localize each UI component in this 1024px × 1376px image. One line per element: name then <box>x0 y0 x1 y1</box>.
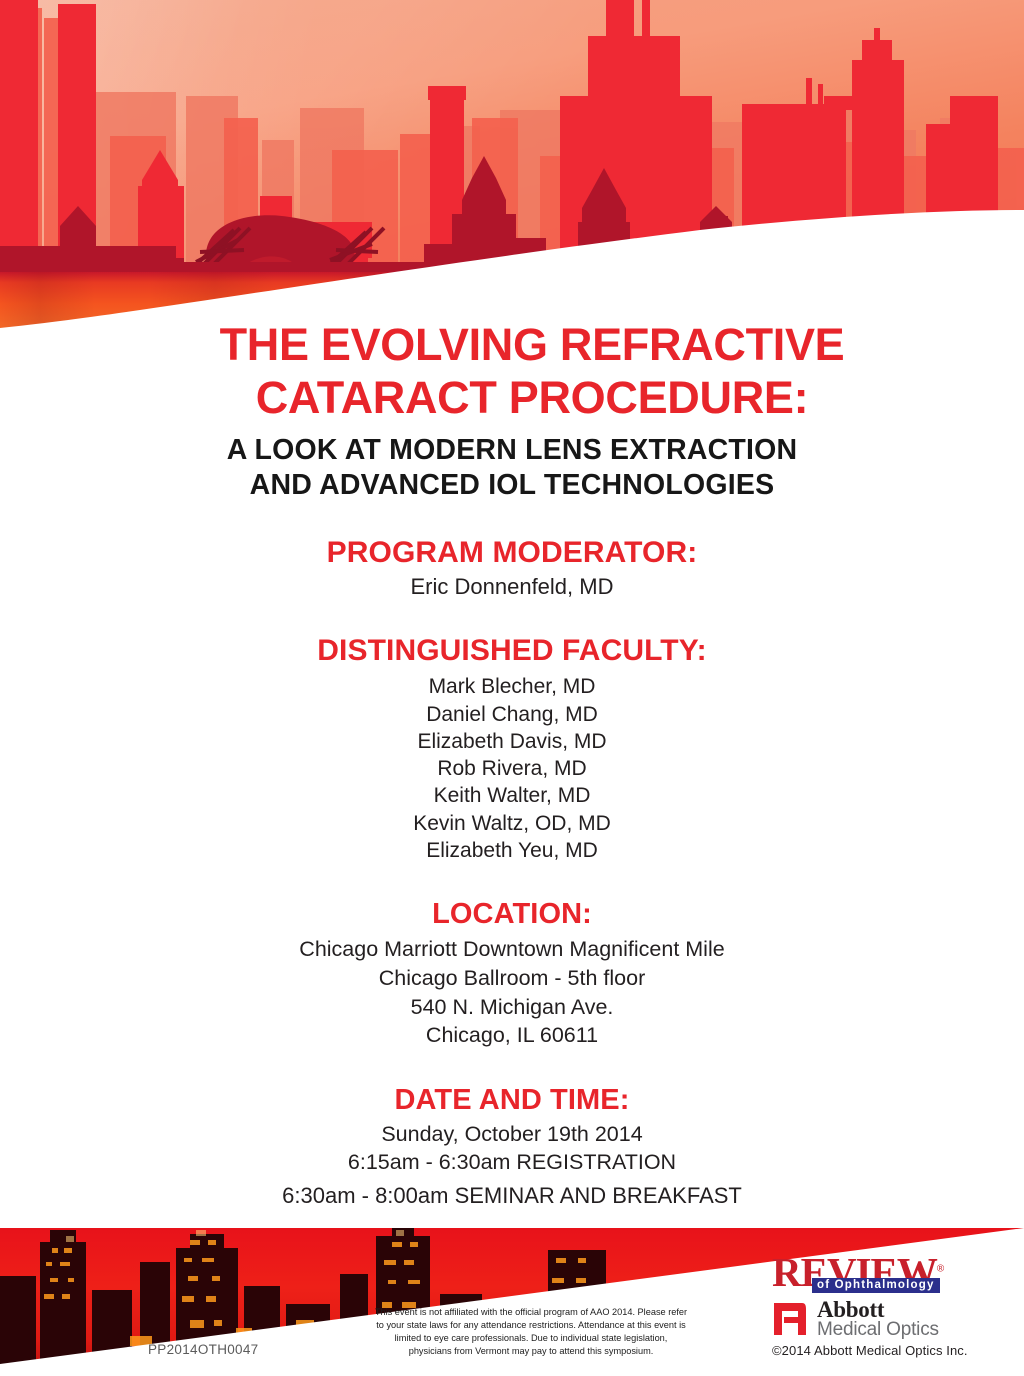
title-line-1: THE EVOLVING REFRACTIVE <box>24 318 1000 371</box>
list-item: Kevin Waltz, OD, MD <box>0 810 1024 837</box>
list-item: Elizabeth Yeu, MD <box>0 837 1024 864</box>
faculty-section: DISTINGUISHED FACULTY: Mark Blecher, MD … <box>0 634 1024 864</box>
moderator-section: PROGRAM MODERATOR: Eric Donnenfeld, MD <box>0 536 1024 600</box>
top-skyline-banner <box>0 0 1024 330</box>
list-item: Elizabeth Davis, MD <box>0 728 1024 755</box>
location-city: Chicago, IL 60611 <box>0 1021 1024 1050</box>
datetime-section: DATE AND TIME: Sunday, October 19th 2014… <box>0 1084 1024 1210</box>
faculty-heading: DISTINGUISHED FACULTY: <box>0 634 1024 668</box>
datetime-lines: Sunday, October 19th 2014 6:15am - 6:30a… <box>0 1120 1024 1210</box>
abbott-a-symbol-icon <box>772 1301 808 1337</box>
list-item: Mark Blecher, MD <box>0 673 1024 700</box>
main-content: THE EVOLVING REFRACTIVE CATARACT PROCEDU… <box>0 318 1024 1350</box>
moderator-heading: PROGRAM MODERATOR: <box>0 536 1024 570</box>
location-section: LOCATION: Chicago Marriott Downtown Magn… <box>0 898 1024 1049</box>
abbott-tagline: Medical Optics <box>817 1320 939 1339</box>
page-subtitle: A LOOK AT MODERN LENS EXTRACTION AND ADV… <box>0 433 1024 503</box>
abbott-brand-name: Abbott <box>817 1298 884 1321</box>
title-line-2: CATARACT PROCEDURE: <box>24 371 1000 424</box>
abbott-medical-optics-logo: Abbott Medical Optics <box>772 1298 962 1346</box>
product-code: PP2014OTH0047 <box>148 1342 258 1357</box>
seminar-time: 6:30am - 8:00am SEMINAR AND BREAKFAST <box>0 1181 1024 1210</box>
list-item: Daniel Chang, MD <box>0 701 1024 728</box>
event-date: Sunday, October 19th 2014 <box>0 1120 1024 1149</box>
location-venue: Chicago Marriott Downtown Magnificent Mi… <box>0 935 1024 964</box>
subtitle-line-1: A LOOK AT MODERN LENS EXTRACTION <box>26 433 998 468</box>
location-lines: Chicago Marriott Downtown Magnificent Mi… <box>0 935 1024 1049</box>
white-curve-divider-top <box>0 210 1024 330</box>
location-heading: LOCATION: <box>0 898 1024 931</box>
flyer-page: THE EVOLVING REFRACTIVE CATARACT PROCEDU… <box>0 0 1024 1376</box>
page-title: THE EVOLVING REFRACTIVE CATARACT PROCEDU… <box>0 318 1024 424</box>
location-room: Chicago Ballroom - 5th floor <box>0 964 1024 993</box>
list-item: Keith Walter, MD <box>0 782 1024 809</box>
disclaimer-text: This event is not affiliated with the of… <box>372 1306 690 1358</box>
subtitle-line-2: AND ADVANCED IOL TECHNOLOGIES <box>26 468 998 503</box>
location-street: 540 N. Michigan Ave. <box>0 993 1024 1022</box>
registered-trademark-icon: ® <box>937 1263 943 1274</box>
faculty-list: Mark Blecher, MD Daniel Chang, MD Elizab… <box>0 673 1024 864</box>
review-logo-subtitle: of Ophthalmology <box>812 1278 940 1293</box>
review-ophthalmology-logo: REVIEW® of Ophthalmology <box>772 1254 922 1298</box>
registration-time: 6:15am - 6:30am REGISTRATION <box>0 1148 1024 1177</box>
datetime-heading: DATE AND TIME: <box>0 1084 1024 1117</box>
abbott-copyright: ©2014 Abbott Medical Optics Inc. <box>772 1343 968 1358</box>
list-item: Rob Rivera, MD <box>0 755 1024 782</box>
moderator-name: Eric Donnenfeld, MD <box>0 574 1024 600</box>
